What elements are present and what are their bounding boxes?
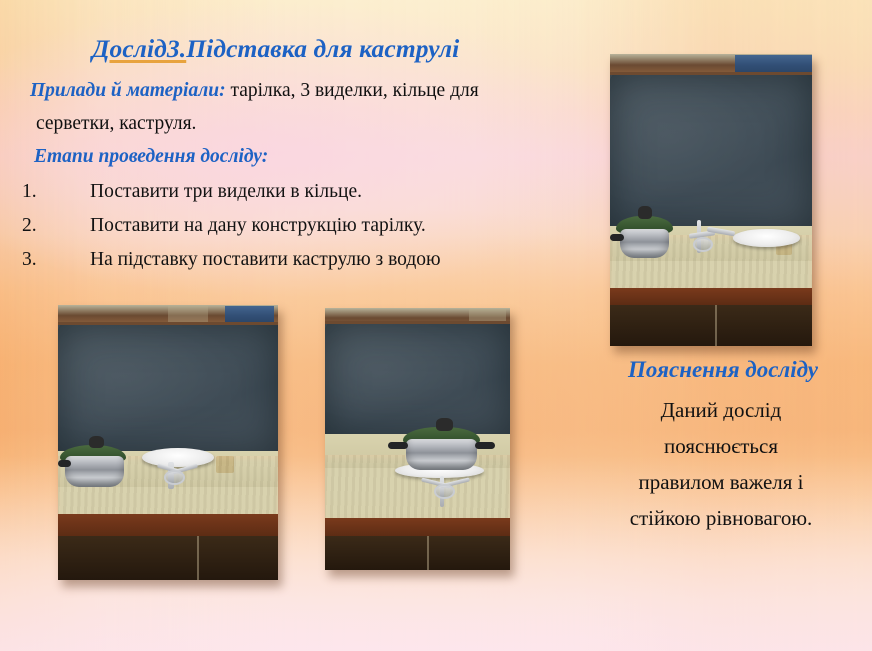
- list-item-number: 3.: [22, 249, 50, 271]
- list-item-number: 2.: [22, 215, 50, 237]
- explanation-line: Даний дослід: [574, 392, 868, 428]
- pot-knob: [436, 418, 453, 431]
- page-title: Дослід3.Підставка для каструлі: [92, 34, 459, 64]
- pot-body: [620, 229, 668, 258]
- page-title-underlined-part: Дослід3.: [92, 34, 186, 63]
- photo-bottom-left: [58, 305, 278, 580]
- explanation-line: пояснюється: [574, 428, 868, 464]
- explanation-body: Даний дослід пояснюється правилом важеля…: [574, 392, 868, 536]
- desk-front: [325, 518, 510, 536]
- list-item-text: Поставити три виделки в кільце.: [90, 181, 362, 203]
- photo-bottom-middle: [325, 308, 510, 570]
- napkin-ring: [693, 237, 713, 253]
- classroom-scene: [58, 305, 278, 580]
- desk-seam: [715, 305, 717, 346]
- pot-handle: [475, 442, 495, 450]
- list-item-text: Поставити на дану конструкцію тарілку.: [90, 215, 426, 237]
- classroom-scene: [325, 308, 510, 570]
- pot-body: [406, 439, 476, 470]
- poster-icon: [225, 306, 273, 321]
- desk-front: [58, 514, 278, 536]
- pot-handle: [610, 234, 624, 241]
- poster-icon: [168, 306, 208, 321]
- list-item-number: 1.: [22, 181, 50, 203]
- pot-handle: [58, 460, 71, 467]
- desk-base: [325, 536, 510, 570]
- desk-base: [610, 305, 812, 346]
- pot-knob: [89, 436, 104, 448]
- stages-label: Етапи проведення досліду:: [34, 146, 268, 168]
- materials-value: тарілка, 3 виделки, кільце для: [226, 80, 479, 101]
- blackboard: [325, 321, 510, 441]
- materials-line-2: серветки, каструля.: [36, 113, 196, 135]
- napkin-ring: [164, 470, 186, 485]
- desk-seam: [197, 536, 199, 580]
- photo-topright: [610, 54, 812, 346]
- desk-front: [610, 288, 812, 306]
- list-item: 3.На підставку поставити каструлю з водо…: [22, 249, 441, 271]
- materials-label: Прилади й матеріали:: [30, 80, 226, 101]
- page-title-rest: Підставка для каструлі: [186, 34, 459, 63]
- explanation-line: стійкою рівновагою.: [574, 500, 868, 536]
- slide-canvas: Дослід3.Підставка для каструлі Прилади й…: [0, 0, 872, 651]
- desk-seam: [427, 536, 429, 570]
- pot-knob: [638, 206, 652, 219]
- classroom-scene: [610, 54, 812, 346]
- list-item: 1.Поставити три виделки в кільце.: [22, 181, 362, 203]
- pot-body: [65, 456, 124, 486]
- napkin-ring: [434, 484, 455, 500]
- plate: [733, 229, 800, 247]
- explanation-title: Пояснення досліду: [578, 357, 868, 383]
- explanation-line: правилом важеля і: [574, 464, 868, 500]
- list-item-text: На підставку поставити каструлю з водою: [90, 249, 441, 271]
- list-item: 2.Поставити на дану конструкцію тарілку.: [22, 215, 426, 237]
- pot-handle: [388, 442, 408, 450]
- desk-base: [58, 536, 278, 580]
- materials-line: Прилади й матеріали: тарілка, 3 виделки,…: [30, 80, 479, 102]
- poster-icon: [735, 55, 812, 71]
